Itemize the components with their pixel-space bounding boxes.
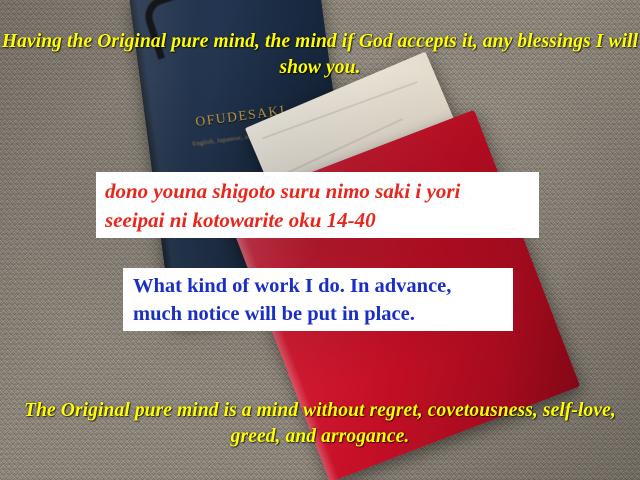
translation-line-1: What kind of work I do. In advance,: [133, 272, 513, 300]
romaji-text-box: dono youna shigoto suru nimo saki i yori…: [96, 172, 539, 238]
romaji-line-1: dono youna shigoto suru nimo saki i yori: [105, 177, 539, 206]
romaji-line-2: seeipai ni kotowarite oku 14-40: [105, 206, 539, 235]
translation-line-2: much notice will be put in place.: [133, 300, 513, 328]
caption-bottom: The Original pure mind is a mind without…: [0, 398, 640, 450]
caption-top: Having the Original pure mind, the mind …: [0, 29, 640, 81]
translation-text-box: What kind of work I do. In advance, much…: [123, 268, 513, 331]
slide-canvas: OFUDESAKI English, Japanese, and Romaniz…: [0, 0, 640, 480]
